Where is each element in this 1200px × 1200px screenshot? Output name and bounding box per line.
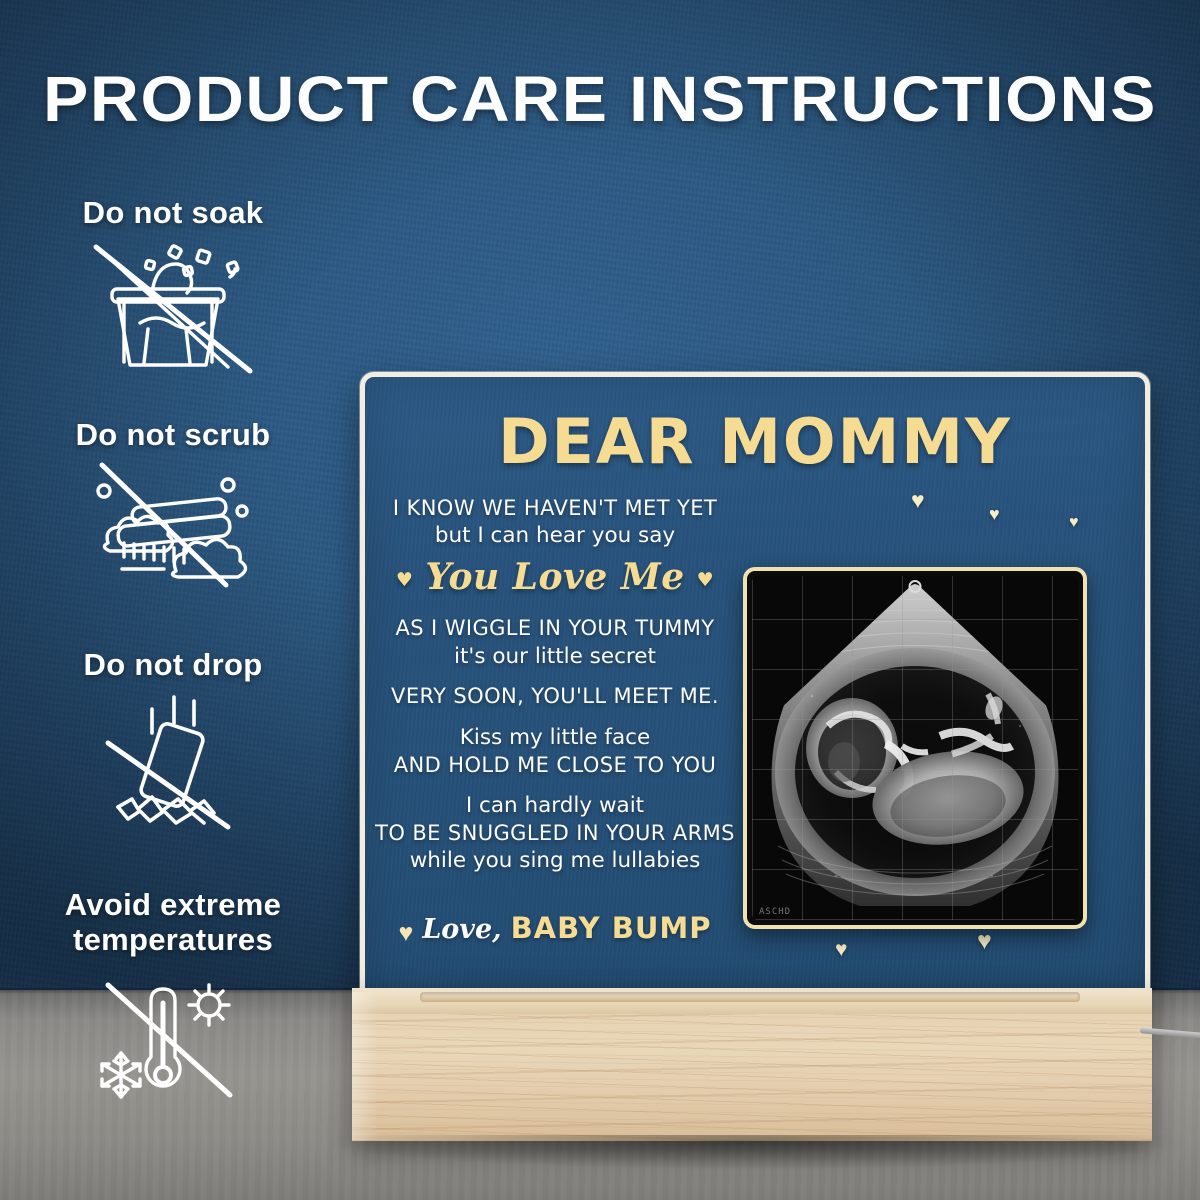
care-item-do-not-scrub: Do not scrub xyxy=(8,418,338,589)
heart-icon: ♥ xyxy=(697,569,715,591)
falling-object-no-drop-icon xyxy=(78,689,268,834)
care-item-do-not-soak: Do not soak xyxy=(8,196,338,377)
care-label-avoid-extreme-temperatures-line2: temperatures xyxy=(8,923,338,958)
poem-spacer xyxy=(375,779,735,792)
acrylic-plaque: DEAR MOMMY ♥ ♥ ♥ ♥ ♥ I KNOW WE HAVEN'T M… xyxy=(360,372,1140,1000)
scrub-brush-foam-no-scrub-icon xyxy=(78,459,268,589)
care-label-do-not-drop: Do not drop xyxy=(8,648,338,683)
base-cast-shadow xyxy=(330,1135,1180,1169)
heart-icon: ♥ xyxy=(911,489,925,512)
poem-spacer xyxy=(375,602,735,615)
poem-line-3: AS I WIGGLE IN YOUR TUMMY xyxy=(375,615,735,642)
page-title: PRODUCT CARE INSTRUCTIONS xyxy=(0,62,1200,136)
heart-icon: ♥ xyxy=(977,929,992,954)
plaque-face: DEAR MOMMY ♥ ♥ ♥ ♥ ♥ I KNOW WE HAVEN'T M… xyxy=(360,372,1150,1002)
poem-line-7: AND HOLD ME CLOSE TO YOU xyxy=(375,752,735,779)
product-care-poster: PRODUCT CARE INSTRUCTIONS Do not soak xyxy=(0,0,1200,1200)
care-item-do-not-drop: Do not drop xyxy=(8,648,338,834)
poem-spacer xyxy=(375,711,735,724)
plaque-signature: ♥Love,BABY BUMP xyxy=(377,911,733,948)
bucket-mop-no-soak-icon xyxy=(78,237,268,377)
ultrasound-grid-overlay xyxy=(752,576,1078,920)
poem-line-1: I KNOW WE HAVEN'T MET YET xyxy=(375,495,735,522)
ultrasound-photo-frame: ASCHD xyxy=(743,567,1087,929)
poem-line-4: it's our little secret xyxy=(375,643,735,671)
poem-line-2: but I can hear you say xyxy=(375,522,735,550)
ultrasound-caption: ASCHD xyxy=(759,907,791,917)
signature-name: BABY BUMP xyxy=(511,911,712,945)
thermometer-sun-snowflake-icon xyxy=(78,967,268,1117)
heart-icon: ♥ xyxy=(989,505,1000,523)
poem-line-10: while you sing me lullabies xyxy=(375,847,735,875)
base-plaque-slot xyxy=(420,992,1080,1002)
care-label-do-not-scrub: Do not scrub xyxy=(8,418,338,453)
care-label-do-not-soak: Do not soak xyxy=(8,196,338,231)
heart-icon: ♥ xyxy=(398,919,413,947)
poem-spacer xyxy=(375,670,735,683)
ultrasound-probe-marker-icon xyxy=(909,580,922,593)
care-item-avoid-extreme-temperatures: Avoid extreme temperatures xyxy=(8,888,338,1117)
signature-love-text: Love, xyxy=(422,914,501,945)
poem-line-8: I can hardly wait xyxy=(375,792,735,820)
plaque-poem: I KNOW WE HAVEN'T MET YET but I can hear… xyxy=(375,495,735,875)
plaque-heading: DEAR MOMMY xyxy=(365,405,1145,478)
poem-line-5: VERY SOON, YOU'LL MEET ME. xyxy=(375,683,735,710)
poem-line-9: TO BE SNUGGLED IN YOUR ARMS xyxy=(375,820,735,847)
care-label-avoid-extreme-temperatures-line1: Avoid extreme xyxy=(8,888,338,923)
poem-script-line: ♥You Love Me♥ xyxy=(375,556,735,598)
heart-icon: ♥ xyxy=(1069,515,1079,531)
poem-script-text: You Love Me xyxy=(425,556,684,598)
base-left-highlight xyxy=(352,992,378,1141)
poem-line-6: Kiss my little face xyxy=(375,724,735,752)
heart-icon: ♥ xyxy=(835,939,847,960)
heart-icon: ♥ xyxy=(396,569,414,591)
ultrasound-photo: ASCHD xyxy=(752,576,1078,920)
